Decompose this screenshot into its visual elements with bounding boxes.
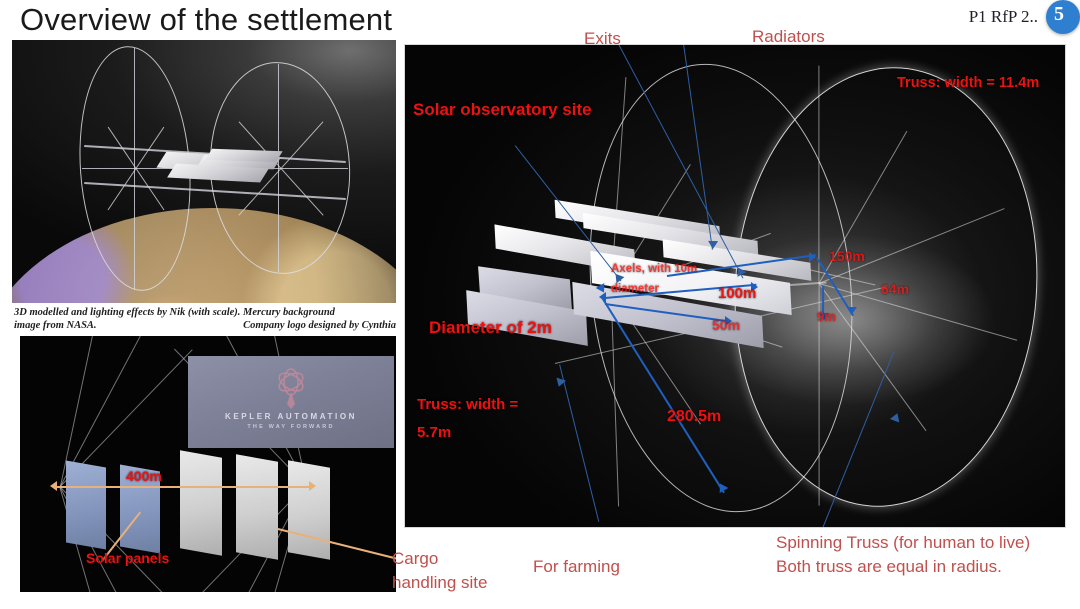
label-spinning-truss-line2: Both truss are equal in radius. — [776, 556, 1002, 577]
annotation-dim-50m: 50m — [712, 317, 740, 333]
dim-arrow-150m-right — [809, 252, 816, 262]
label-for-farming: For farming — [533, 556, 620, 577]
annotation-truss-width-57-line2: 5.7m — [417, 425, 451, 441]
deck-label: P1 RfP 2.. — [969, 7, 1038, 27]
dim-400m-label: 400m — [126, 468, 162, 484]
annotation-dim-64m: 64m — [881, 281, 909, 297]
radiators-arrowhead — [708, 241, 718, 249]
annotation-dim-9m: 9m — [817, 309, 836, 325]
caption-line-1: 3D modelled and lighting effects by Nik … — [14, 306, 396, 319]
solar-panel-array — [66, 460, 106, 549]
mercury-render-image — [12, 40, 396, 303]
annotation-dim-280-5m: 280.5m — [667, 409, 721, 425]
logo-tagline: THE WAY FORWARD — [188, 424, 394, 430]
label-radiators: Radiators — [752, 26, 825, 47]
annotation-axels-line2: diameter — [611, 283, 659, 296]
annotation-solar-observatory-site: Solar observatory site — [413, 102, 592, 118]
caption-line-2-left: image from NASA. — [14, 319, 97, 332]
label-spinning-truss-line1: Spinning Truss (for human to live) — [776, 532, 1030, 553]
label-cargo-line2: handling site — [392, 572, 487, 593]
badge-glyph: 5 — [1054, 3, 1064, 26]
dimension-line-400m — [56, 486, 310, 488]
annotation-truss-width-114: Truss: width = 11.4m — [897, 75, 1039, 91]
slide-canvas: Overview of the settlement P1 RfP 2.. 5 … — [0, 0, 1080, 609]
dimension-arrow-right — [309, 481, 316, 491]
caption-line-2-right: Company logo designed by Cynthia — [243, 319, 396, 332]
main-settlement-diagram: Solar observatory site Truss: width = 11… — [404, 44, 1066, 528]
annotation-truss-width-57-line1: Truss: width = — [417, 397, 518, 413]
annotation-dim-100m: 100m — [718, 286, 756, 302]
kepler-atom-icon — [268, 364, 314, 410]
right-truss-ray — [818, 66, 819, 284]
cargo-handling-panel — [180, 450, 222, 555]
cargo-handling-panel — [236, 454, 278, 559]
solar-panels-label: Solar panels — [86, 550, 169, 566]
render-caption: 3D modelled and lighting effects by Nik … — [14, 306, 396, 332]
cargo-handling-panel — [288, 460, 330, 559]
page-title: Overview of the settlement — [20, 2, 392, 38]
dimension-arrow-left — [50, 481, 57, 491]
bottom-left-render-image: KEPLER AUTOMATION THE WAY FORWARD 400m S… — [20, 336, 396, 592]
label-cargo-line1: Cargo — [392, 548, 438, 569]
label-exits: Exits — [584, 28, 621, 49]
annotation-dim-150m: 150m — [829, 248, 865, 264]
share-badge-icon[interactable]: 5 — [1046, 0, 1080, 34]
annotation-diameter-of-2m: Diameter of 2m — [429, 320, 552, 336]
dim-arrow-64m — [847, 307, 857, 314]
company-logo-card: KEPLER AUTOMATION THE WAY FORWARD — [188, 356, 394, 448]
logo-company-name: KEPLER AUTOMATION — [188, 412, 394, 421]
annotation-axels-line1: Axels, with 10m — [611, 263, 697, 276]
for-farming-leader — [559, 364, 600, 522]
